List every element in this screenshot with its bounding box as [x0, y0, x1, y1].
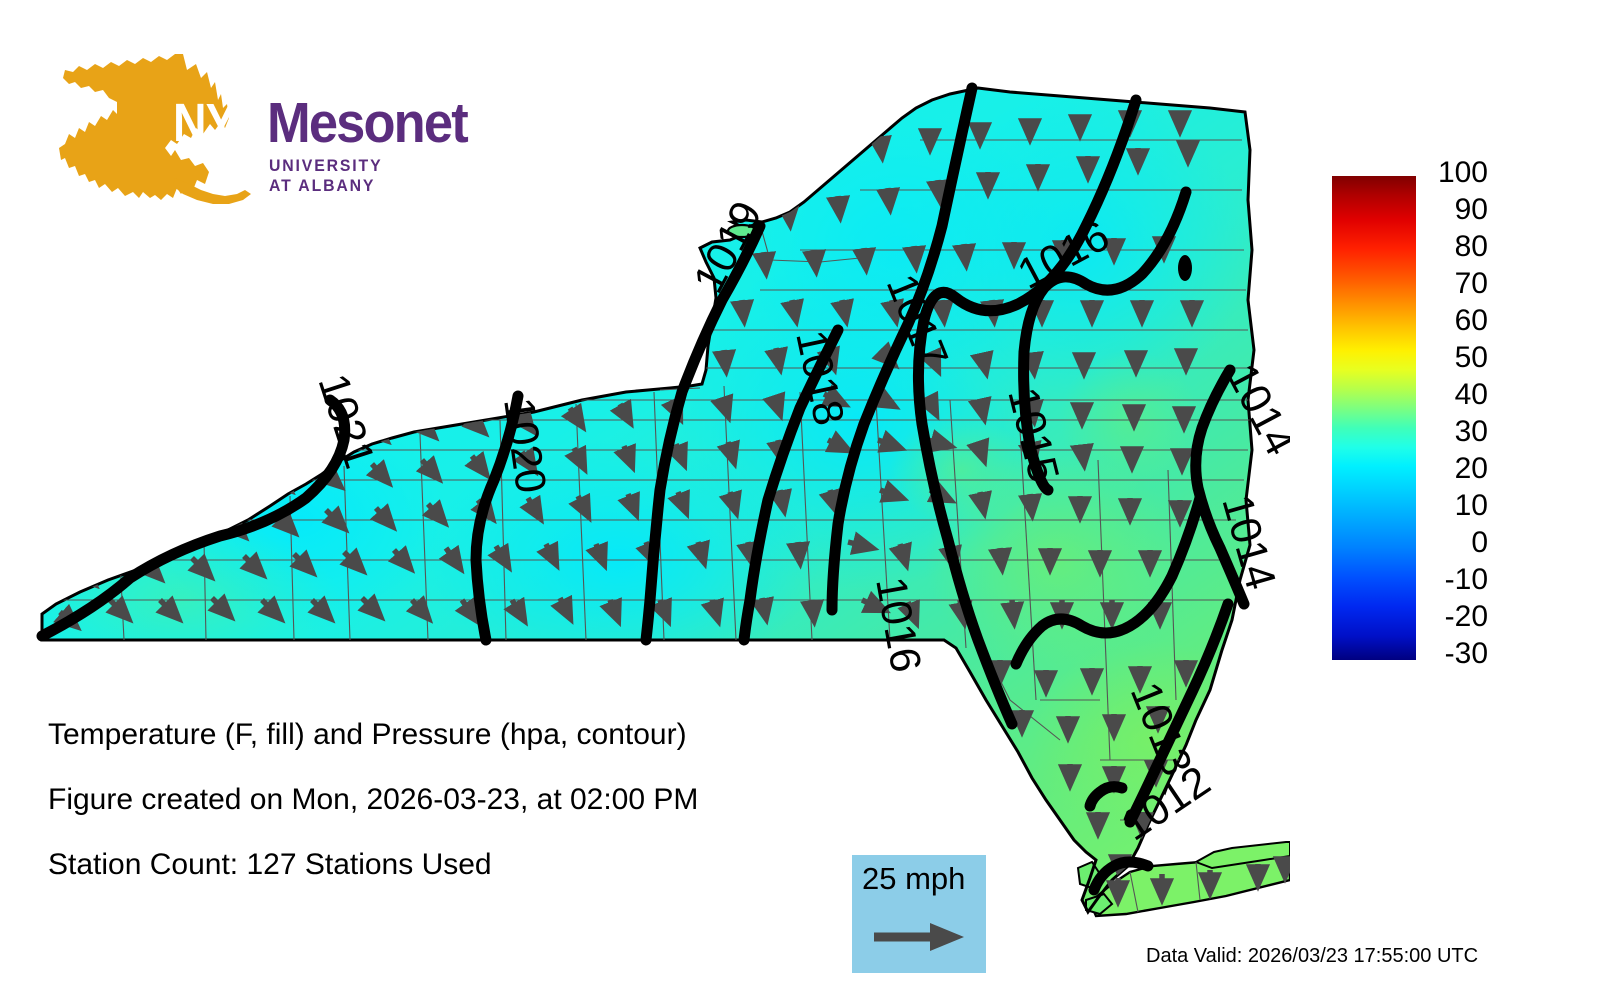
data-valid-footer: Data Valid: 2026/03/23 17:55:00 UTC — [1146, 945, 1478, 968]
colorbar-tick-40: 40 — [1422, 380, 1488, 410]
colorbar-tick-60: 60 — [1422, 306, 1488, 336]
colorbar-tick-80: 80 — [1422, 232, 1488, 262]
colorbar-tick-20: 20 — [1422, 454, 1488, 484]
colorbar-tick-100: 100 — [1422, 158, 1488, 188]
station-count-caption: Station Count: 127 Stations Used — [48, 848, 492, 882]
wind-legend-label: 25 mph — [862, 861, 965, 897]
colorbar-tick-90: 90 — [1422, 195, 1488, 225]
colorbar-tick-neg10: -10 — [1422, 565, 1488, 595]
colorbar-tick-labels: 100 90 80 70 60 50 40 30 20 10 0 -10 -20… — [1422, 158, 1542, 678]
figure-created-caption: Figure created on Mon, 2026-03-23, at 02… — [48, 783, 698, 817]
colorbar-tick-50: 50 — [1422, 343, 1488, 373]
temperature-colorbar — [1332, 176, 1416, 660]
colorbar-tick-70: 70 — [1422, 269, 1488, 299]
wind-speed-legend: 25 mph — [852, 855, 986, 973]
colorbar-tick-30: 30 — [1422, 417, 1488, 447]
colorbar-tick-10: 10 — [1422, 491, 1488, 521]
colorbar-tick-neg30: -30 — [1422, 639, 1488, 669]
wind-legend-arrow-icon — [872, 917, 968, 957]
colorbar-tick-0: 0 — [1422, 528, 1488, 558]
contour-label-1021: 1021 — [308, 368, 383, 474]
colorbar-tick-neg20: -20 — [1422, 602, 1488, 632]
station-marker-dot — [1178, 255, 1192, 281]
chart-title-caption: Temperature (F, fill) and Pressure (hpa,… — [48, 718, 687, 752]
